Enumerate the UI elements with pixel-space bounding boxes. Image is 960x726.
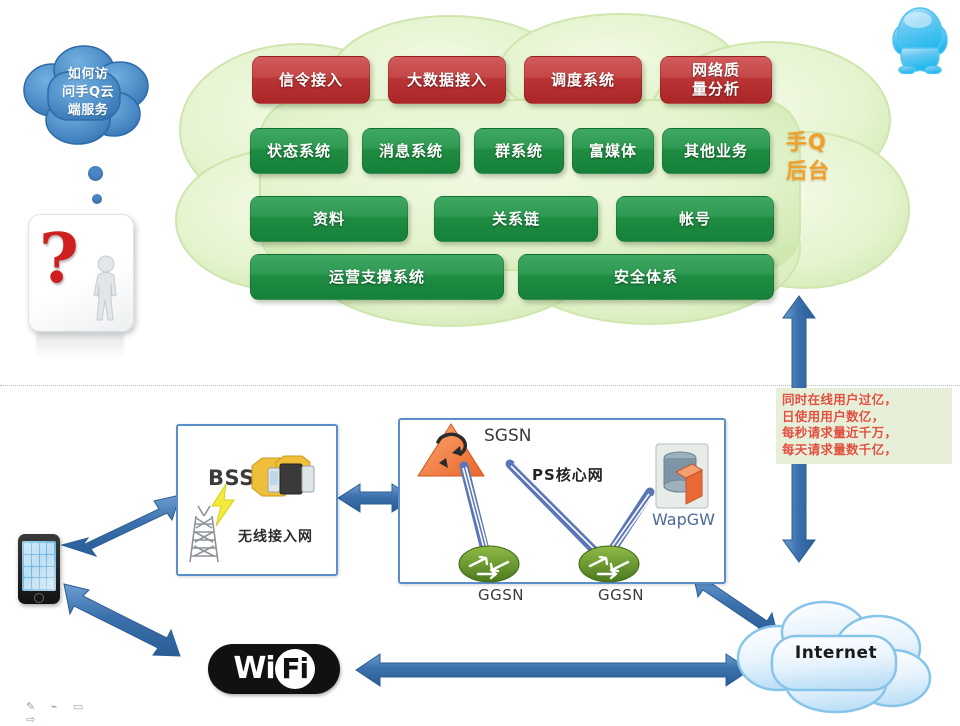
smartphone-icon bbox=[18, 534, 60, 604]
stats-line-1: 同时在线用户过亿， bbox=[782, 392, 946, 409]
ps-core-network-panel: SGSN PS核心网 WapGW bbox=[398, 418, 726, 584]
phone-screen bbox=[22, 541, 56, 591]
slide-footer-marks: ✎ ⌁ ▭ ⇨ bbox=[26, 700, 106, 714]
phone-home-button bbox=[34, 593, 44, 603]
stats-line-4: 每天请求量数千亿， bbox=[782, 442, 946, 459]
wifi-text-wi: Wi bbox=[233, 654, 276, 684]
cell-tower-icon bbox=[186, 502, 222, 564]
router-icon bbox=[458, 544, 520, 584]
wireless-access-label: 无线接入网 bbox=[238, 526, 313, 546]
stats-line-3: 每秒请求量近千万， bbox=[782, 425, 946, 442]
stats-line-2: 日使用用户数亿， bbox=[782, 409, 946, 426]
arrow-wifi-to-internet bbox=[356, 654, 750, 686]
internet-label-wrap: Internet bbox=[732, 592, 940, 714]
diagram-canvas: 信令接入 大数据接入 调度系统 网络质 量分析 状态系统 消息系统 群系统 富媒… bbox=[0, 0, 960, 720]
wireless-access-network-panel: BSS 无线接入网 bbox=[176, 424, 338, 576]
arrow-phone-to-wifi bbox=[64, 584, 180, 656]
ggsn-right-label: GGSN bbox=[598, 586, 644, 604]
arrow-phone-to-bss bbox=[62, 495, 180, 556]
bss-equipment-icon bbox=[246, 452, 322, 504]
wifi-text-fi: Fi bbox=[281, 655, 308, 683]
internet-cloud: Internet bbox=[732, 592, 940, 714]
ps-core-links bbox=[400, 420, 724, 582]
stats-callout: 同时在线用户过亿， 日使用用户数亿， 每秒请求量近千万， 每天请求量数千亿， bbox=[776, 388, 952, 464]
wifi-logo-icon: Wi Fi bbox=[208, 644, 340, 694]
ggsn-left-label: GGSN bbox=[478, 586, 524, 604]
router-icon bbox=[578, 544, 640, 584]
internet-label: Internet bbox=[795, 643, 877, 663]
wifi-circle: Fi bbox=[275, 649, 315, 689]
